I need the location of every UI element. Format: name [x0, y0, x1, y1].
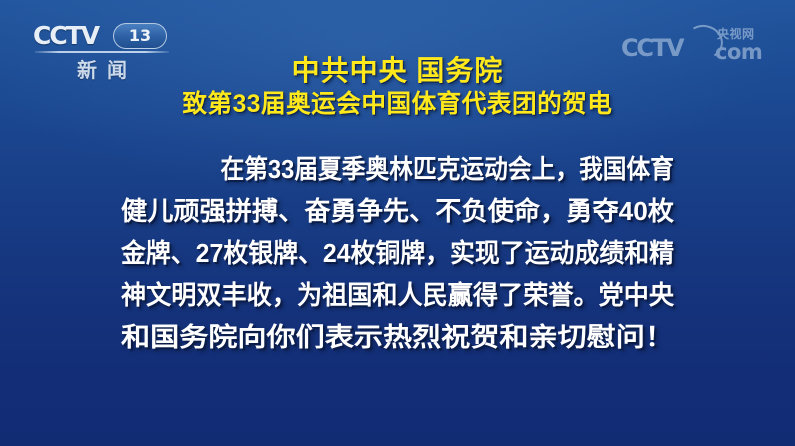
- logo-divider-rule: [35, 51, 169, 53]
- body-line: 在第33届夏季奥林匹克运动会上，我国体育: [121, 148, 674, 190]
- body-line: 健儿顽强拼搏、奋勇争先、不负使命，勇夺40枚: [121, 190, 674, 232]
- channel-number-badge: 13: [113, 23, 167, 49]
- headline-secondary-title: 致第33届奥运会中国体育代表团的贺电: [0, 88, 795, 121]
- headline-primary-title: 中共中央 国务院: [0, 54, 795, 88]
- body-line: 和国务院向你们表示热烈祝贺和亲切慰问！: [121, 316, 674, 358]
- body-line: 神文明双丰收，为祖国和人民赢得了荣誉。党中央: [121, 274, 674, 316]
- cctv-wordmark: CCTV: [33, 22, 98, 50]
- channel-number-label: 13: [114, 24, 166, 47]
- body-line: 金牌、27枚银牌、24枚铜牌，实现了运动成绩和精: [121, 232, 674, 274]
- headline-block: 中共中央 国务院 致第33届奥运会中国体育代表团的贺电: [0, 54, 795, 121]
- broadcast-graphic-screen: CCTV 13 新闻 CCTV 央视网 com 中共中央 国务院 致第33届奥运…: [0, 0, 795, 446]
- congratulatory-message-body: 在第33届夏季奥林匹克运动会上，我国体育 健儿顽强拼搏、奋勇争先、不负使命，勇夺…: [121, 148, 674, 358]
